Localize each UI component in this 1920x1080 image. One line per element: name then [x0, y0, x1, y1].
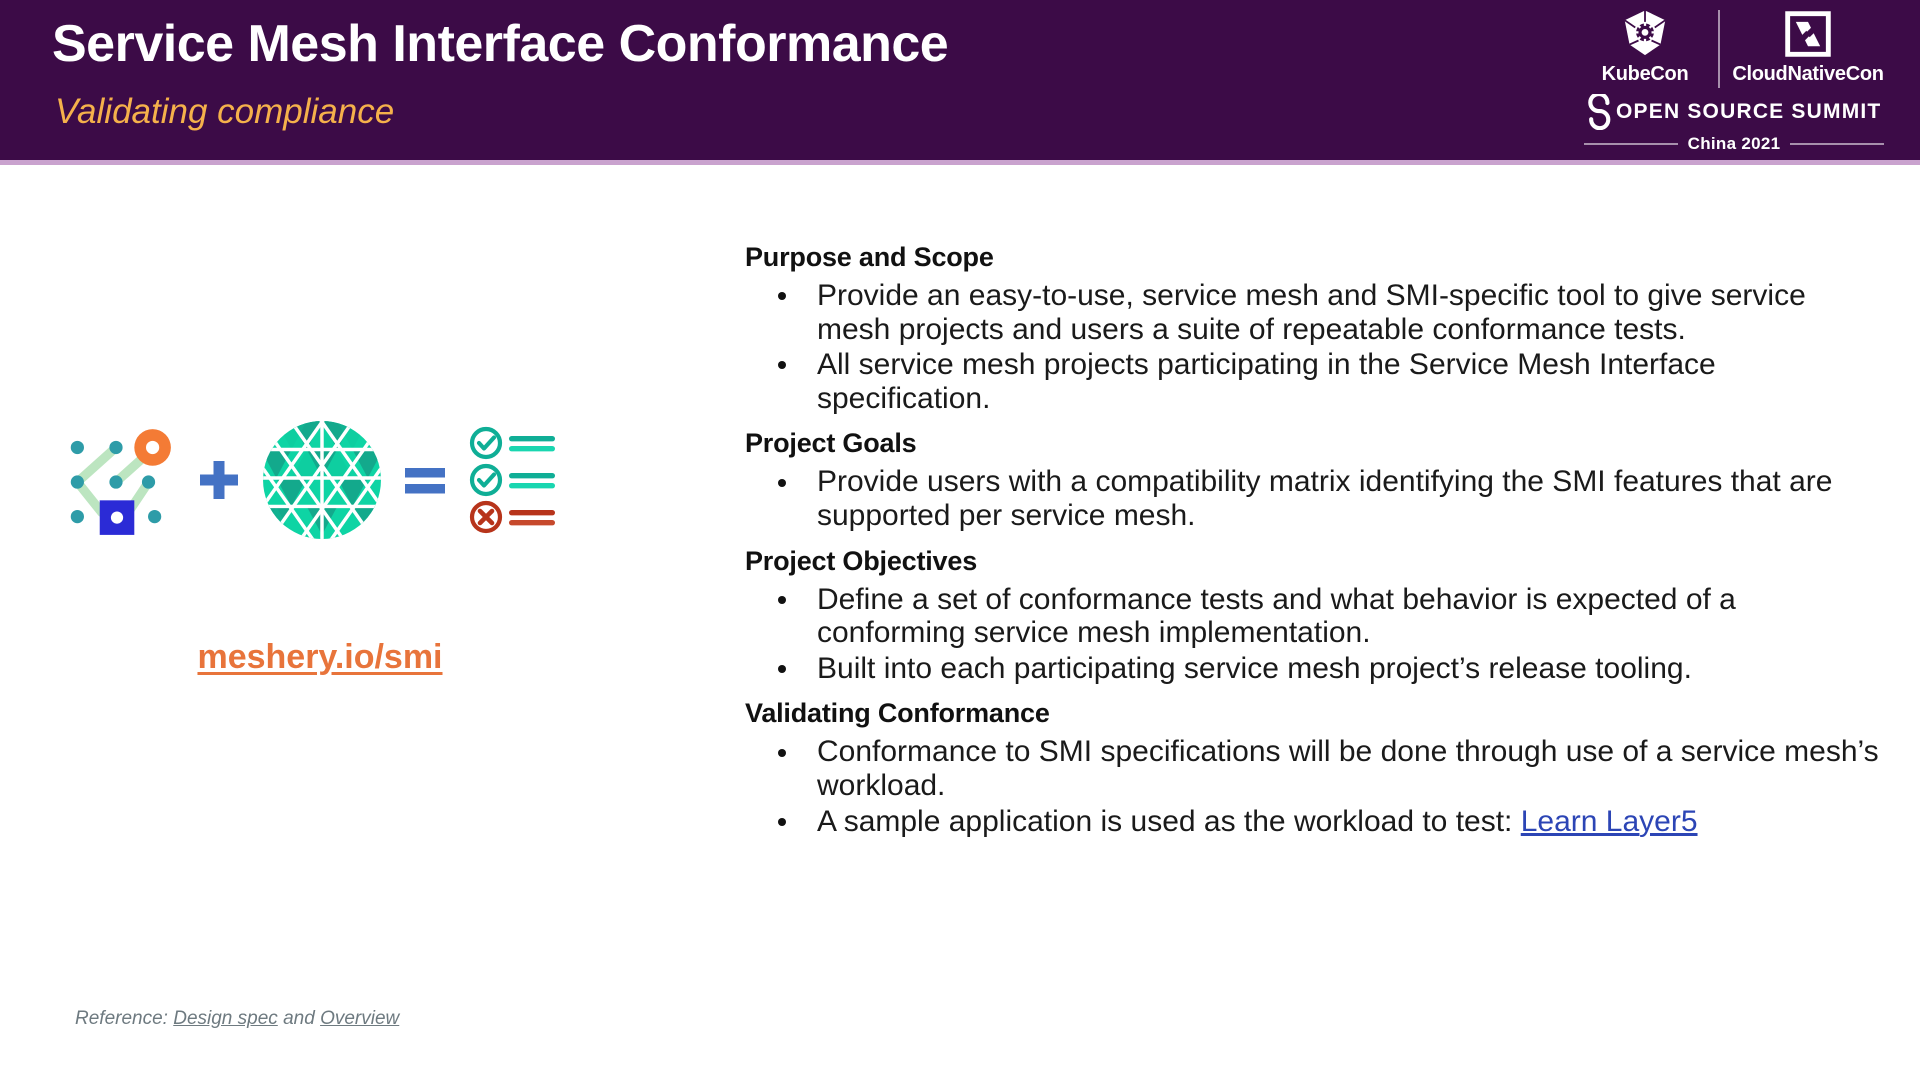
- bullet-dot-icon: [778, 479, 786, 487]
- list-item: All service mesh projects participating …: [745, 348, 1880, 415]
- equals-operator: [401, 458, 449, 502]
- bullet-text: Built into each participating service me…: [817, 652, 1692, 685]
- bullet-text: Provide users with a compatibility matri…: [817, 465, 1832, 532]
- cloudnativecon-label: CloudNativeCon: [1732, 63, 1883, 86]
- list-item: Define a set of conformance tests and wh…: [745, 583, 1880, 650]
- kubecon-label: KubeCon: [1602, 63, 1689, 86]
- result-pass-row-2: [472, 466, 555, 494]
- list-item: Provide an easy-to-use, service mesh and…: [745, 279, 1880, 346]
- section-heading: Project Goals: [745, 428, 1880, 459]
- bullet-text: Conformance to SMI specifications will b…: [817, 735, 1879, 802]
- bullet-text: Provide an easy-to-use, service mesh and…: [817, 279, 1806, 346]
- rule-right: [1790, 143, 1884, 145]
- conformance-equation-graphic: [55, 410, 585, 550]
- smi-logo-icon: [55, 419, 177, 541]
- equals-icon: [401, 458, 449, 502]
- location-year-label: China 2021: [1688, 134, 1781, 154]
- section-heading: Validating Conformance: [745, 698, 1880, 729]
- list-item: Provide users with a compatibility matri…: [745, 465, 1880, 532]
- list-item: Built into each participating service me…: [745, 652, 1880, 686]
- bullet-list: Define a set of conformance tests and wh…: [745, 583, 1880, 686]
- bullet-dot-icon: [778, 361, 786, 369]
- open-source-summit-label: OPEN SOURCE SUMMIT: [1616, 100, 1881, 124]
- bullet-dot-icon: [778, 818, 786, 826]
- section-purpose-and-scope: Purpose and Scope Provide an easy-to-use…: [745, 242, 1880, 415]
- content-column: Purpose and Scope Provide an easy-to-use…: [745, 242, 1880, 840]
- meshery-logo-icon: [261, 419, 383, 541]
- conformance-results-icon: [467, 425, 567, 535]
- plus-icon: [195, 456, 243, 504]
- linux-foundation-s-icon: [1584, 94, 1620, 130]
- bullet-dot-icon: [778, 749, 786, 757]
- section-project-goals: Project Goals Provide users with a compa…: [745, 428, 1880, 532]
- cloudnativecon-logo-group: CloudNativeCon: [1732, 8, 1884, 86]
- bullet-dot-icon: [778, 292, 786, 300]
- reference-conjunction: and: [278, 1008, 320, 1029]
- overview-link[interactable]: Overview: [320, 1008, 399, 1029]
- logo-divider: [1718, 10, 1720, 88]
- open-source-summit-row: OPEN SOURCE SUMMIT: [1584, 94, 1884, 130]
- header-underline-rule: [0, 160, 1920, 165]
- footer-reference: Reference: Design spec and Overview: [75, 1008, 399, 1030]
- section-validating-conformance: Validating Conformance Conformance to SM…: [745, 698, 1880, 838]
- kubernetes-helm-icon: [1619, 8, 1671, 60]
- reference-prefix: Reference:: [75, 1008, 173, 1029]
- bullet-list: Conformance to SMI specifications will b…: [745, 735, 1880, 838]
- list-item: Conformance to SMI specifications will b…: [745, 735, 1880, 802]
- page-subtitle: Validating compliance: [55, 92, 394, 132]
- bullet-dot-icon: [778, 665, 786, 673]
- slide-canvas: Service Mesh Interface Conformance Valid…: [0, 0, 1920, 1080]
- bullet-text: Define a set of conformance tests and wh…: [817, 583, 1736, 650]
- location-year-row: China 2021: [1584, 134, 1884, 154]
- section-heading: Purpose and Scope: [745, 242, 1880, 273]
- meshery-smi-link[interactable]: meshery.io/smi: [55, 638, 585, 677]
- bullet-dot-icon: [778, 596, 786, 604]
- section-heading: Project Objectives: [745, 546, 1880, 577]
- rule-left: [1584, 143, 1678, 145]
- bullet-list: Provide users with a compatibility matri…: [745, 465, 1880, 532]
- learn-layer5-link[interactable]: Learn Layer5: [1521, 805, 1698, 838]
- list-item-with-link: A sample application is used as the work…: [745, 805, 1880, 839]
- page-title: Service Mesh Interface Conformance: [52, 14, 948, 74]
- plus-operator: [195, 456, 243, 504]
- event-logo-lockup: KubeCon CloudNativeCon OPEN SOURCE SUMMI…: [1584, 8, 1884, 156]
- result-fail-row: [472, 503, 555, 531]
- bullet-text: A sample application is used as the work…: [817, 805, 1521, 838]
- bullet-list: Provide an easy-to-use, service mesh and…: [745, 279, 1880, 415]
- bullet-text: All service mesh projects participating …: [817, 348, 1716, 415]
- section-project-objectives: Project Objectives Define a set of confo…: [745, 546, 1880, 686]
- design-spec-link[interactable]: Design spec: [173, 1008, 278, 1029]
- conference-logos-row: KubeCon CloudNativeCon: [1584, 8, 1884, 98]
- cloudnativecon-icon: [1782, 8, 1834, 60]
- result-pass-row-1: [472, 429, 555, 457]
- kubecon-logo-group: KubeCon: [1584, 8, 1706, 86]
